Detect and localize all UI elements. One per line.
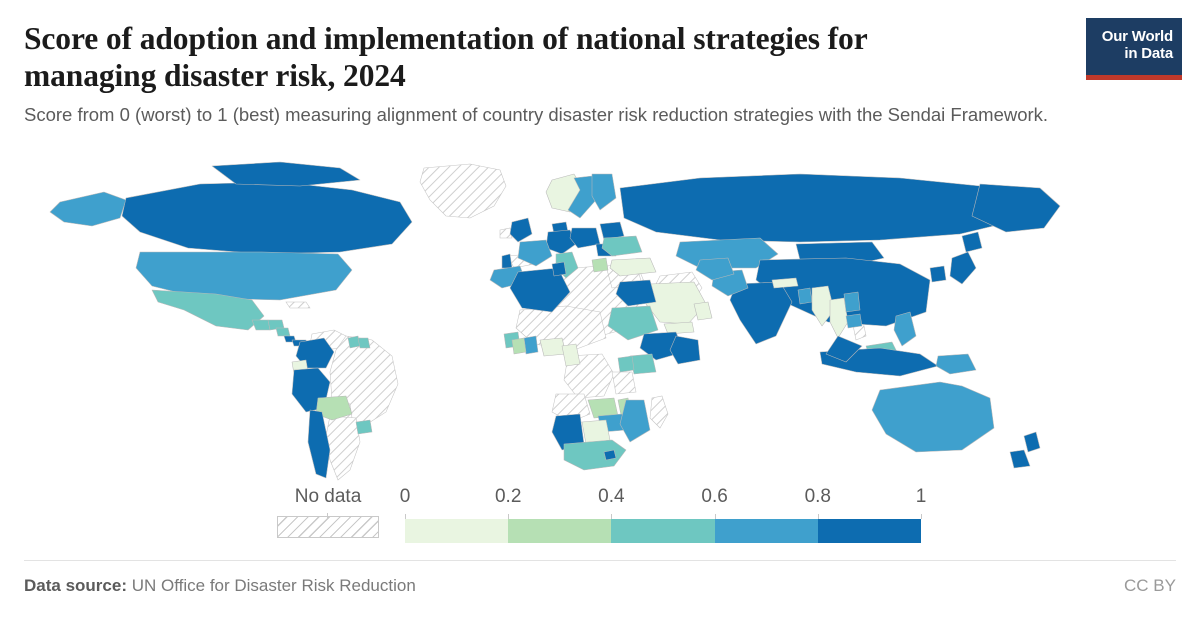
our-world-in-data-logo[interactable]: Our World in Data xyxy=(1086,18,1182,80)
legend-color-bar[interactable] xyxy=(405,519,921,543)
chart-subtitle: Score from 0 (worst) to 1 (best) measuri… xyxy=(24,103,1139,128)
logo-line-2: in Data xyxy=(1124,46,1173,63)
country-somalia xyxy=(670,336,700,364)
country-greenland xyxy=(420,164,506,218)
legend-tick-label-5: 1 xyxy=(916,487,927,506)
choropleth-map-container[interactable] xyxy=(0,160,1200,485)
legend-bin-3[interactable] xyxy=(715,519,818,543)
country-canada-arctic xyxy=(212,162,360,186)
country-canada xyxy=(122,182,412,254)
country-mozambique xyxy=(620,400,650,442)
country-finland xyxy=(592,174,616,210)
country-papua-new-guinea xyxy=(936,354,976,374)
legend-tick-labels: 00.20.40.60.81 xyxy=(405,487,921,511)
legend-tick-mark-5 xyxy=(921,514,922,519)
country-tunisia xyxy=(552,262,566,276)
country-uganda xyxy=(618,356,634,372)
country-oman xyxy=(694,302,712,320)
legend-no-data-group[interactable]: No data xyxy=(277,487,379,538)
country-chile xyxy=(308,410,330,478)
country-japan-north xyxy=(962,232,982,252)
legend-tick-mark-0 xyxy=(405,514,406,519)
country-kenya xyxy=(630,354,656,374)
legend-tick-label-4: 0.8 xyxy=(805,487,831,506)
country-cuba xyxy=(286,302,310,308)
country-saudi-arabia xyxy=(646,282,706,324)
country-tanzania xyxy=(612,372,636,394)
country-japan xyxy=(950,252,976,284)
footer-divider xyxy=(24,560,1176,561)
legend-tick-label-3: 0.6 xyxy=(701,487,727,506)
legend-bin-4[interactable] xyxy=(818,519,921,543)
country-guatemala xyxy=(252,320,270,330)
country-turkey xyxy=(610,258,656,276)
country-philippines xyxy=(894,312,916,346)
data-source: Data source: UN Office for Disaster Risk… xyxy=(24,576,416,596)
data-source-prefix: Data source: xyxy=(24,576,127,595)
legend-tick-marks xyxy=(405,514,921,519)
country-lesotho xyxy=(604,450,616,460)
legend-no-data-tick xyxy=(327,513,328,519)
chart-header: Score of adoption and implementation of … xyxy=(0,0,1200,128)
country-nicaragua xyxy=(276,328,290,336)
legend-tick-mark-1 xyxy=(508,514,509,519)
legend-tick-mark-3 xyxy=(715,514,716,519)
country-new-zealand-south xyxy=(1010,450,1030,468)
legend-color-scale[interactable]: 00.20.40.60.81 xyxy=(405,487,921,543)
legend-tick-mark-2 xyxy=(611,514,612,519)
logo-line-1: Our World xyxy=(1102,29,1173,46)
country-madagascar xyxy=(650,396,668,428)
legend-tick-label-0: 0 xyxy=(400,487,411,506)
country-ukraine xyxy=(602,236,642,256)
country-russia xyxy=(620,174,1020,242)
legend-tick-mark-4 xyxy=(818,514,819,519)
country-south-africa xyxy=(564,440,626,470)
country-argentina xyxy=(326,416,360,480)
legend-no-data-swatch[interactable] xyxy=(277,516,379,538)
chart-footer: Data source: UN Office for Disaster Risk… xyxy=(24,576,1176,596)
country-alaska xyxy=(50,192,126,226)
world-map[interactable] xyxy=(0,160,1200,485)
country-ivory-coast xyxy=(512,338,526,354)
country-bangladesh xyxy=(798,288,812,304)
country-nepal xyxy=(772,278,798,288)
country-laos xyxy=(844,292,860,312)
legend-bin-1[interactable] xyxy=(508,519,611,543)
legend-tick-label-2: 0.4 xyxy=(598,487,624,506)
legend-bin-2[interactable] xyxy=(611,519,714,543)
data-source-name: UN Office for Disaster Risk Reduction xyxy=(132,576,416,595)
country-suriname xyxy=(358,338,370,348)
country-new-zealand xyxy=(1024,432,1040,452)
country-united-kingdom xyxy=(510,218,532,242)
country-australia xyxy=(872,382,994,452)
legend-tick-label-1: 0.2 xyxy=(495,487,521,506)
page-title: Score of adoption and implementation of … xyxy=(24,20,974,94)
legend-bin-0[interactable] xyxy=(405,519,508,543)
country-cambodia xyxy=(846,314,862,328)
license-label[interactable]: CC BY xyxy=(1124,576,1176,596)
country-portugal xyxy=(502,254,512,268)
country-greece xyxy=(592,258,608,272)
country-uruguay xyxy=(356,420,372,434)
legend-no-data-label: No data xyxy=(277,487,379,506)
map-legend[interactable]: No data 00.20.40.60.81 xyxy=(0,487,1200,549)
country-south-korea xyxy=(930,266,946,282)
